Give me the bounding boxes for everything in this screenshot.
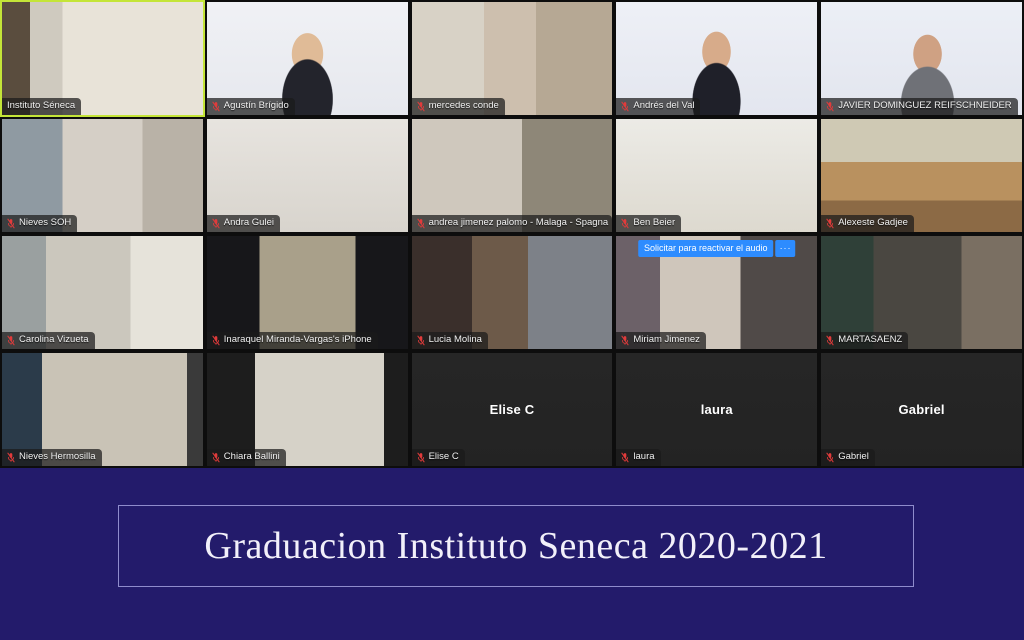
participant-name-label: mercedes conde xyxy=(429,100,499,112)
participant-name-label: MARTASAENZ xyxy=(838,334,902,346)
mic-muted-icon xyxy=(621,218,629,229)
participant-tile[interactable]: Chiara Ballini xyxy=(205,351,410,468)
participant-name-label: Lucia Molina xyxy=(429,334,482,346)
banner-title-frame: Graduacion Instituto Seneca 2020-2021 xyxy=(118,505,914,587)
mic-muted-icon xyxy=(826,452,834,463)
participant-name-bar: Andrés del Val xyxy=(616,98,700,115)
mic-muted-icon xyxy=(212,335,220,346)
participant-name-bar: Alexeste Gadjee xyxy=(821,215,914,232)
participant-tile[interactable]: Elise CElise C xyxy=(410,351,615,468)
participant-name-bar: andrea jimenez palomo - Malaga - Spagna xyxy=(412,215,613,232)
video-grid-row: Instituto SénecaAgustín Brígidomercedes … xyxy=(0,0,1024,117)
participant-tile[interactable]: andrea jimenez palomo - Malaga - Spagna xyxy=(410,117,615,234)
more-options-icon[interactable]: ··· xyxy=(776,240,796,257)
video-gallery-grid: Instituto SénecaAgustín Brígidomercedes … xyxy=(0,0,1024,468)
mic-muted-icon xyxy=(212,101,220,112)
participant-name-bar: Ben Beier xyxy=(616,215,681,232)
mic-muted-icon xyxy=(7,218,15,229)
mic-muted-icon xyxy=(7,335,15,346)
mic-muted-icon xyxy=(621,452,629,463)
participant-name-label: Andra Gulei xyxy=(224,217,274,229)
participant-name-bar: mercedes conde xyxy=(412,98,505,115)
participant-name-bar: Miriam Jimenez xyxy=(616,332,706,349)
mic-muted-icon xyxy=(417,218,425,229)
participant-name-label: JAVIER DOMINGUEZ REIFSCHNEIDER xyxy=(838,100,1011,112)
participant-tile[interactable]: Andrés del Val xyxy=(614,0,819,117)
mic-muted-icon xyxy=(417,335,425,346)
mic-muted-icon xyxy=(621,335,629,346)
video-grid-row: Nieves HermosillaChiara BalliniElise CEl… xyxy=(0,351,1024,468)
participant-name-bar: JAVIER DOMINGUEZ REIFSCHNEIDER xyxy=(821,98,1017,115)
participant-tile[interactable]: Ben Beier xyxy=(614,117,819,234)
participant-tile[interactable]: Nieves SOH xyxy=(0,117,205,234)
unmute-request-notification: Solicitar para reactivar el audio··· xyxy=(638,240,796,257)
participant-tile[interactable]: lauralaura xyxy=(614,351,819,468)
participant-name-label: Instituto Séneca xyxy=(7,100,75,112)
mic-muted-icon xyxy=(826,335,834,346)
participant-name-label: Inaraquel Miranda-Vargas's iPhone xyxy=(224,334,372,346)
participant-name-bar: Agustín Brígido xyxy=(207,98,295,115)
mic-muted-icon xyxy=(212,452,220,463)
participant-name-label: Nieves SOH xyxy=(19,217,71,229)
mic-muted-icon xyxy=(7,452,15,463)
participant-name-bar: Elise C xyxy=(412,449,465,466)
participant-name-label: Elise C xyxy=(429,451,459,463)
participant-tile[interactable]: Instituto Séneca xyxy=(0,0,205,117)
video-grid-row: Nieves SOHAndra Guleiandrea jimenez palo… xyxy=(0,117,1024,234)
participant-name-bar: Nieves Hermosilla xyxy=(2,449,102,466)
mic-muted-icon xyxy=(621,101,629,112)
participant-tile[interactable]: Lucia Molina xyxy=(410,234,615,351)
mic-muted-icon xyxy=(417,101,425,112)
mic-muted-icon xyxy=(212,218,220,229)
participant-name-label: Chiara Ballini xyxy=(224,451,280,463)
participant-tile[interactable]: Inaraquel Miranda-Vargas's iPhone xyxy=(205,234,410,351)
participant-name-bar: Gabriel xyxy=(821,449,875,466)
participant-tile[interactable]: Nieves Hermosilla xyxy=(0,351,205,468)
mic-muted-icon xyxy=(417,452,425,463)
participant-name-label: laura xyxy=(633,451,654,463)
participant-name-bar: Chiara Ballini xyxy=(207,449,286,466)
participant-name-label: Alexeste Gadjee xyxy=(838,217,908,229)
participant-name-label: andrea jimenez palomo - Malaga - Spagna xyxy=(429,217,609,229)
participant-name-label: Ben Beier xyxy=(633,217,675,229)
participant-tile[interactable]: mercedes conde xyxy=(410,0,615,117)
participant-name-label: Agustín Brígido xyxy=(224,100,289,112)
participant-name-bar: Lucia Molina xyxy=(412,332,488,349)
participant-name-bar: Inaraquel Miranda-Vargas's iPhone xyxy=(207,332,378,349)
participant-tile[interactable]: Alexeste Gadjee xyxy=(819,117,1024,234)
participant-tile[interactable]: Carolina Vizueta xyxy=(0,234,205,351)
mic-muted-icon xyxy=(826,218,834,229)
participant-name-bar: MARTASAENZ xyxy=(821,332,908,349)
participant-tile[interactable]: MARTASAENZ xyxy=(819,234,1024,351)
participant-name-label: Carolina Vizueta xyxy=(19,334,89,346)
participant-name-bar: laura xyxy=(616,449,660,466)
participant-tile[interactable]: Agustín Brígido xyxy=(205,0,410,117)
request-unmute-button[interactable]: Solicitar para reactivar el audio xyxy=(638,240,774,257)
participant-name-bar: Instituto Séneca xyxy=(2,98,81,115)
zoom-meeting-window: Instituto SénecaAgustín Brígidomercedes … xyxy=(0,0,1024,640)
participant-name-label: Nieves Hermosilla xyxy=(19,451,96,463)
participant-name-label: Andrés del Val xyxy=(633,100,694,112)
banner-title-text: Graduacion Instituto Seneca 2020-2021 xyxy=(119,506,913,586)
participant-name-label: Gabriel xyxy=(838,451,869,463)
participant-name-bar: Carolina Vizueta xyxy=(2,332,95,349)
participant-name-bar: Andra Gulei xyxy=(207,215,280,232)
mic-muted-icon xyxy=(826,101,834,112)
participant-tile[interactable]: Andra Gulei xyxy=(205,117,410,234)
video-grid-row: Carolina VizuetaInaraquel Miranda-Vargas… xyxy=(0,234,1024,351)
participant-tile[interactable]: JAVIER DOMINGUEZ REIFSCHNEIDER xyxy=(819,0,1024,117)
participant-tile[interactable]: GabrielGabriel xyxy=(819,351,1024,468)
event-banner: Graduacion Instituto Seneca 2020-2021 xyxy=(0,468,1024,640)
participant-tile[interactable]: Solicitar para reactivar el audio···Miri… xyxy=(614,234,819,351)
participant-name-label: Miriam Jimenez xyxy=(633,334,700,346)
participant-name-bar: Nieves SOH xyxy=(2,215,77,232)
